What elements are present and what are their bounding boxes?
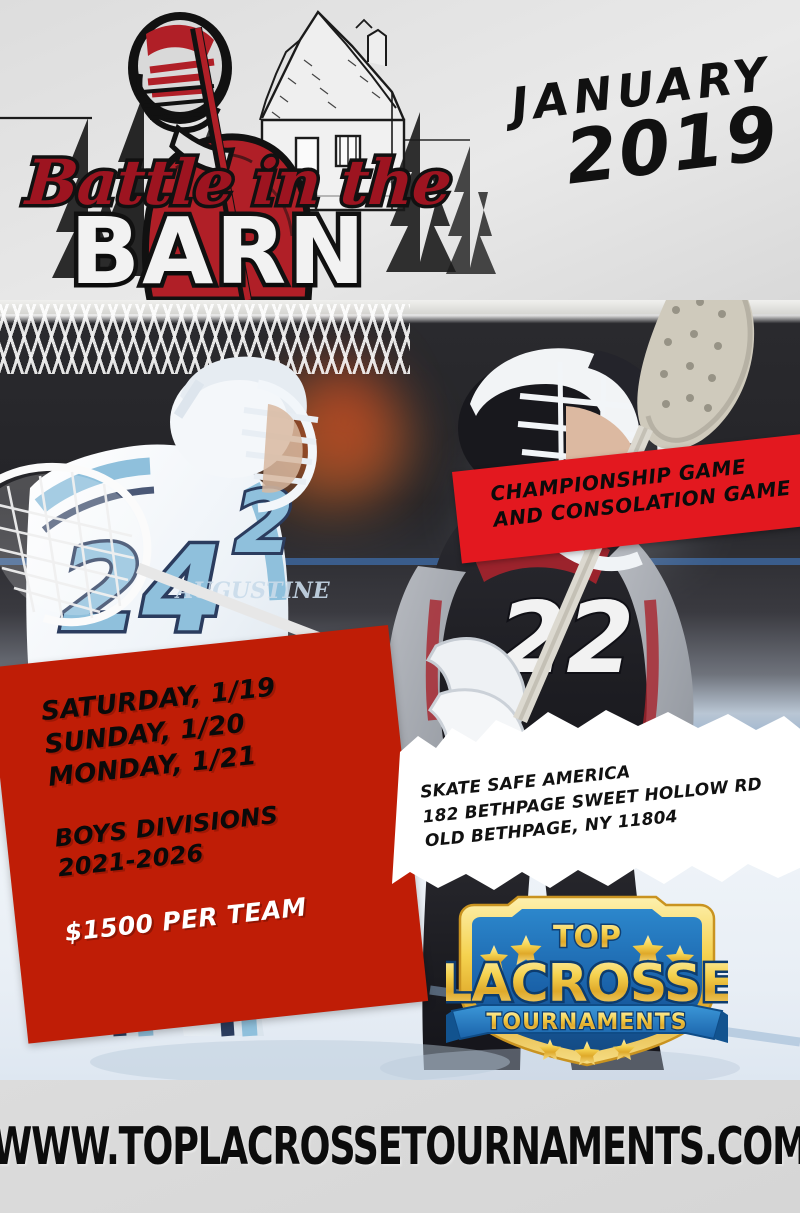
logo-ribbon-word: TOURNAMENTS xyxy=(486,1010,687,1035)
event-logo: Battle in the BARN xyxy=(18,0,448,300)
top-lacrosse-tournaments-logo[interactable]: TOP LACROSSE TOURNAMENTS xyxy=(446,893,728,1071)
website-url[interactable]: WWW.TOPLACROSSETOURNAMENTS.COM xyxy=(0,1117,800,1177)
championship-banner-text: CHAMPIONSHIP GAME AND CONSOLATION GAME xyxy=(489,450,792,533)
website-url-bar[interactable]: WWW.TOPLACROSSETOURNAMENTS.COM xyxy=(0,1080,800,1213)
venue-address-panel: SKATE SAFE AMERICA 182 BETHPAGE SWEET HO… xyxy=(392,706,800,891)
divisions-block: BOYS DIVISIONS 2021-2026 xyxy=(53,788,398,884)
event-title-line2: BARN xyxy=(70,206,367,298)
event-dates-list: SATURDAY, 1/19 SUNDAY, 1/20 MONDAY, 1/21 xyxy=(40,660,389,794)
team-price: $1500 PER TEAM xyxy=(63,882,404,947)
event-date: JANUARY 2019 xyxy=(509,52,783,199)
event-details-panel: SATURDAY, 1/19 SUNDAY, 1/20 MONDAY, 1/21… xyxy=(0,625,428,1044)
logo-top-word: TOP xyxy=(553,920,621,955)
tournament-poster: 24 2 AUGUSTINE 28 xyxy=(0,0,800,1213)
